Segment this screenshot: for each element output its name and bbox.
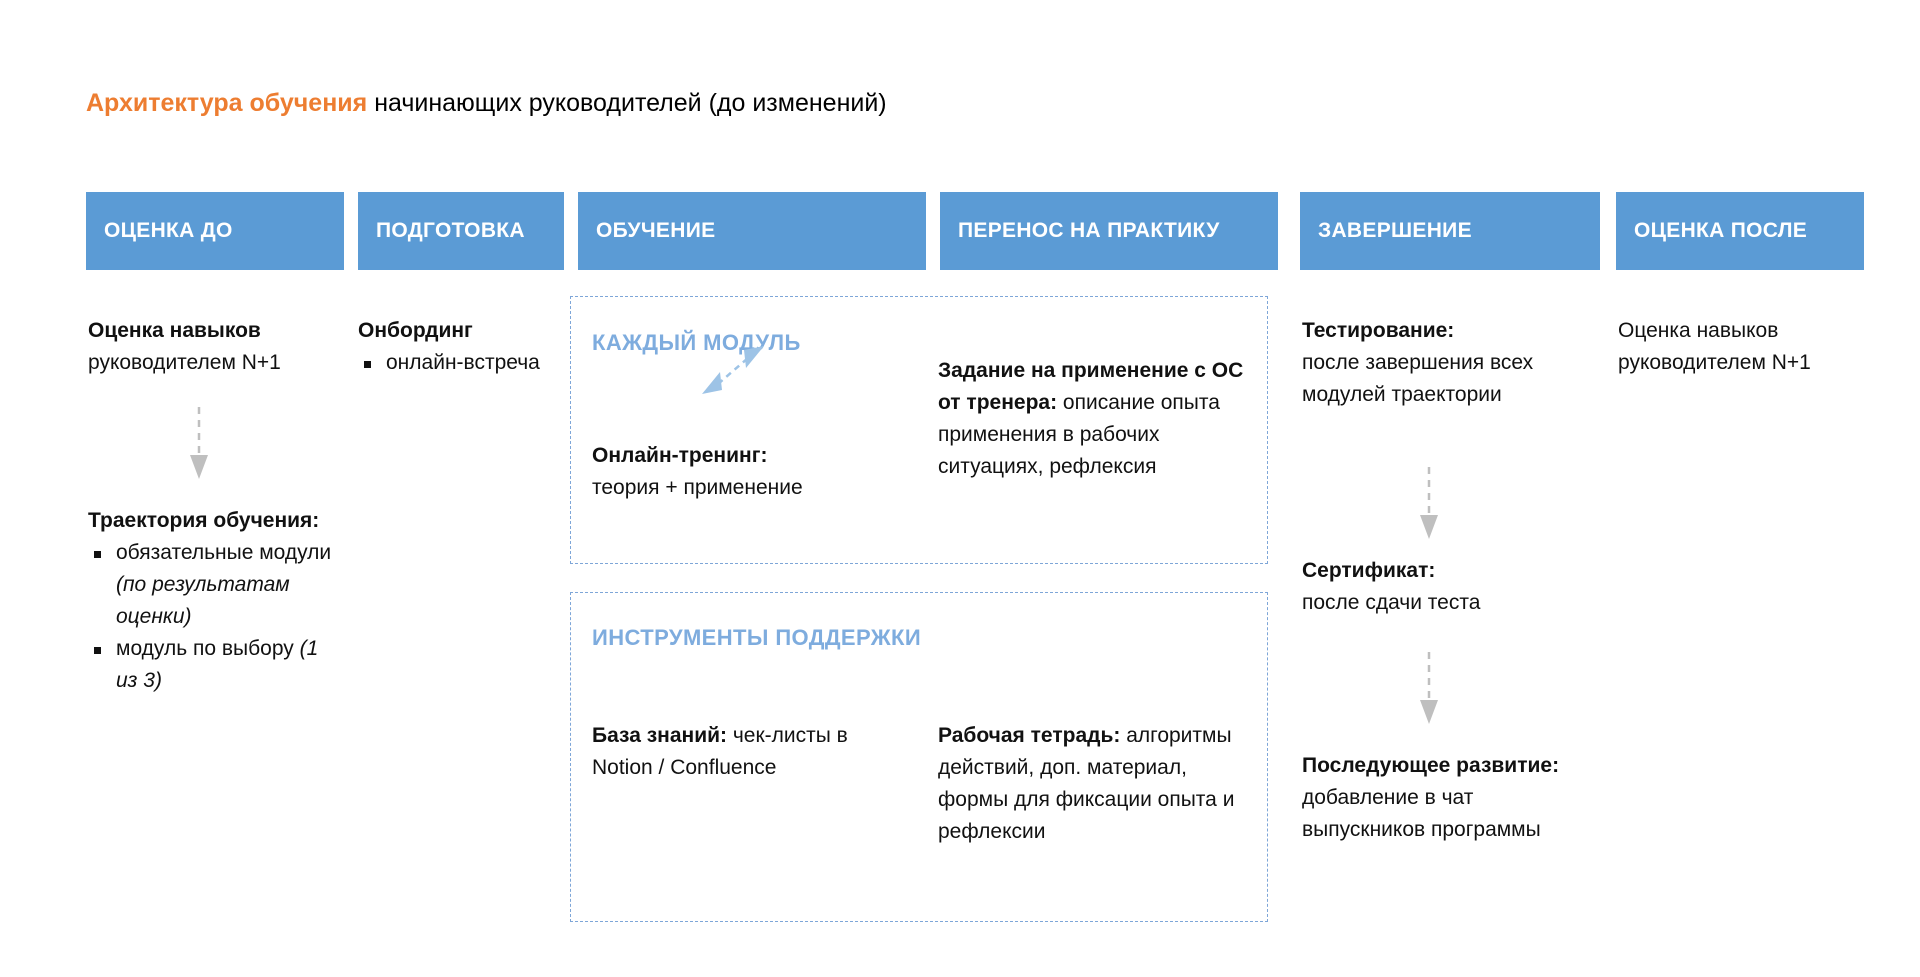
list-item: онлайн-встреча (358, 347, 548, 379)
every-module-heading: КАЖДЫЙ МОДУЛЬ (592, 330, 801, 356)
list-item: обязательные модули (по результатам оцен… (88, 537, 338, 633)
arrow-bidirectional-diagonal (698, 342, 768, 400)
support-knowledge-base: База знаний: чек-листы в Notion / Conflu… (592, 720, 872, 784)
stage-header-label: ПЕРЕНОС НА ПРАКТИКУ (958, 219, 1220, 243)
stage-header-label: ЗАВЕРШЕНИЕ (1318, 219, 1472, 243)
bullet-text: онлайн-встреча (386, 351, 540, 374)
arrow-down-col5-first (1416, 465, 1442, 543)
stage-header-preparation[interactable]: ПОДГОТОВКА (358, 192, 564, 270)
stage-header-assessment-before[interactable]: ОЦЕНКА ДО (86, 192, 344, 270)
col6-skill-assessment-line1: Оценка навыков (1618, 319, 1778, 342)
page-title-rest: начинающих руководителей (до изменений) (367, 89, 886, 117)
col1-learning-path-list: обязательные модули (по результатам оцен… (88, 537, 338, 697)
support-workbook: Рабочая тетрадь: алгоритмы действий, доп… (938, 720, 1248, 848)
col2-onboarding: Онбординг онлайн-встреча (358, 315, 548, 379)
stage-header-training[interactable]: ОБУЧЕНИЕ (578, 192, 926, 270)
col5-testing: Тестирование: после завершения всех моду… (1302, 315, 1582, 411)
col2-onboarding-list: онлайн-встреча (358, 347, 548, 379)
col2-onboarding-title: Онбординг (358, 319, 473, 342)
col5-further-development: Последующее развитие: добавление в чат в… (1302, 750, 1592, 846)
stage-header-completion[interactable]: ЗАВЕРШЕНИЕ (1300, 192, 1600, 270)
stage-header-label: ПОДГОТОВКА (376, 219, 525, 243)
bullet-italic: (по результатам оценки) (116, 573, 290, 628)
support-knowledge-base-title: База знаний: (592, 724, 727, 747)
arrow-down-col1 (186, 405, 212, 483)
support-tools-heading: ИНСТРУМЕНТЫ ПОДДЕРЖКИ (592, 625, 921, 651)
col1-skill-assessment-desc: руководителем N+1 (88, 351, 281, 374)
stage-header-label: ОЦЕНКА ДО (104, 219, 233, 243)
bullet-text: модуль по выбору (116, 637, 300, 660)
module-online-training-desc: теория + применение (592, 476, 803, 499)
col6-skill-assessment-line2: руководителем N+1 (1618, 351, 1811, 374)
stage-header-practice-transfer[interactable]: ПЕРЕНОС НА ПРАКТИКУ (940, 192, 1278, 270)
stage-header-label: ОБУЧЕНИЕ (596, 219, 715, 243)
col5-testing-title: Тестирование: (1302, 319, 1454, 342)
arrow-down-col5-second (1416, 650, 1442, 728)
col1-skill-assessment-title: Оценка навыков (88, 319, 261, 342)
col6-skill-assessment: Оценка навыков руководителем N+1 (1618, 315, 1868, 379)
module-online-training: Онлайн-тренинг: теория + применение (592, 440, 822, 504)
page-title: Архитектура обучения начинающих руководи… (86, 88, 887, 118)
col5-further-development-title: Последующее развитие: (1302, 754, 1559, 777)
col1-learning-path-title: Траектория обучения: (88, 509, 319, 532)
col5-certificate-desc: после сдачи теста (1302, 591, 1480, 614)
col5-testing-desc: после завершения всех модулей траектории (1302, 351, 1533, 406)
stage-header-label: ОЦЕНКА ПОСЛЕ (1634, 219, 1807, 243)
support-workbook-title: Рабочая тетрадь: (938, 724, 1120, 747)
col1-learning-path: Траектория обучения: обязательные модули… (88, 505, 338, 697)
col5-further-development-desc: добавление в чат выпускников программы (1302, 786, 1541, 841)
col5-certificate: Сертификат: после сдачи теста (1302, 555, 1582, 619)
col5-certificate-title: Сертификат: (1302, 559, 1435, 582)
bullet-text: обязательные модули (116, 541, 331, 564)
module-online-training-title: Онлайн-тренинг: (592, 444, 767, 467)
col1-skill-assessment: Оценка навыков руководителем N+1 (88, 315, 338, 379)
page-title-accent: Архитектура обучения (86, 89, 367, 117)
stage-header-assessment-after[interactable]: ОЦЕНКА ПОСЛЕ (1616, 192, 1864, 270)
module-practice-task: Задание на применение с ОС от тренера: о… (938, 355, 1248, 483)
list-item: модуль по выбору (1 из 3) (88, 633, 338, 697)
